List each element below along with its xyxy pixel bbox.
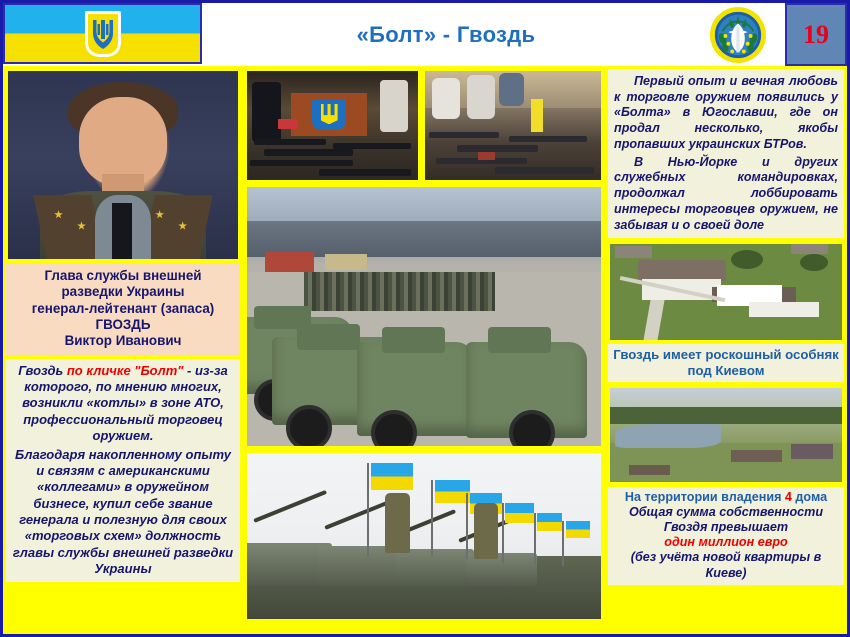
estate-caption-line-1: На территории владения 4 дома — [611, 490, 841, 505]
mansion-caption-line-1: Гвоздь имеет роскошный особняк — [610, 347, 842, 363]
pistol-shape — [509, 136, 586, 142]
caption-line-2: разведки Украины — [10, 284, 236, 300]
center-column — [243, 66, 605, 634]
right-body-text: Первый опыт и вечная любовь к торговле о… — [608, 69, 844, 238]
flag-pole — [562, 521, 564, 566]
rifle-shape — [319, 169, 411, 176]
estate-caption-amount: один миллион евро — [611, 535, 841, 550]
shipping-container — [325, 254, 367, 270]
emblem-container — [690, 3, 785, 66]
body-text-nickname: по кличке "Болт" — [67, 363, 184, 378]
rifle-shape — [250, 160, 353, 166]
ukraine-flag-icon — [3, 3, 202, 64]
person-silhouette — [499, 73, 524, 106]
yellow-marker — [531, 99, 543, 132]
estate-caption-line-1c: дома — [792, 490, 827, 504]
portrait-caption: Глава службы внешней разведки Украины ге… — [6, 263, 240, 356]
garage-wall — [749, 302, 819, 317]
left-body-text: Гвоздь по кличке "Болт" - из-за которого… — [6, 359, 240, 582]
estate-caption-line-2: Общая сумма собственности — [611, 505, 841, 520]
body-text-seg4: Благодаря накопленному опыту и связям с … — [13, 447, 233, 577]
ukraine-flag-icon — [371, 463, 413, 490]
mansion-caption: Гвоздь имеет роскошный особняк под Киево… — [608, 344, 844, 382]
trident-coat-of-arms-icon — [85, 11, 121, 57]
rifle-shape — [254, 139, 326, 145]
flag-pole — [367, 463, 369, 556]
ukraine-flag-icon — [505, 503, 533, 523]
estate-caption-line-3: Гвоздя превышает — [611, 520, 841, 535]
right-paragraph-2: В Нью-Йорке и других служебных командиро… — [614, 155, 838, 234]
pond — [615, 424, 722, 448]
soldier-silhouette — [474, 503, 499, 559]
vehicle-turret — [382, 327, 446, 353]
tank-barrel — [324, 500, 391, 530]
vehicle-wheel — [286, 405, 332, 448]
estate-building — [629, 465, 671, 475]
flag-pole — [431, 480, 433, 556]
forest-line — [610, 407, 842, 424]
guns-market-photo — [423, 69, 603, 182]
intelligence-service-emblem-icon — [709, 6, 767, 64]
trident-glyph — [90, 17, 116, 51]
estate-building — [731, 450, 782, 462]
vehicle-wheel — [371, 410, 417, 448]
caption-line-1: Глава службы внешней — [10, 268, 236, 284]
house-count: 4 — [785, 490, 792, 504]
slide-body: Глава службы внешней разведки Украины ге… — [3, 66, 847, 634]
caption-line-3: генерал-лейтенант (запаса) — [10, 301, 236, 317]
estate-building — [791, 444, 833, 459]
crowd-of-people — [304, 272, 495, 311]
page-number-badge: 19 — [785, 3, 847, 66]
mansion-caption-line-2: под Киевом — [610, 363, 842, 379]
neighbor-house — [791, 244, 828, 254]
caption-line-4: ГВОЗДЬ — [10, 317, 236, 333]
ukraine-flag-icon — [435, 480, 470, 503]
ukraine-flag-icon — [566, 521, 591, 538]
mansion-aerial-photo — [608, 242, 844, 342]
tanks-with-flags-photo — [245, 451, 603, 621]
left-column: Глава службы внешней разведки Украины ге… — [3, 66, 243, 634]
soldier-silhouette — [385, 493, 410, 553]
vehicle-turret — [488, 327, 552, 353]
red-sign — [278, 119, 299, 129]
armored-vehicles-port-photo — [245, 185, 603, 448]
vehicle-turret — [297, 324, 361, 350]
title-container: «Болт» - Гвоздь — [202, 3, 690, 66]
portrait-face — [79, 97, 166, 185]
tank-barrel — [253, 490, 327, 523]
rifle-shape — [333, 143, 412, 149]
pistol-shape — [495, 167, 594, 174]
body-text-seg1: Гвоздь — [18, 363, 67, 378]
trident-shape-icon — [321, 104, 338, 125]
rifle-shape — [264, 149, 353, 156]
guns-photo-row — [245, 69, 603, 182]
person-silhouette — [467, 75, 495, 119]
estate-caption: На территории владения 4 дома Общая сумм… — [608, 487, 844, 585]
estate-aerial-photo — [608, 386, 844, 484]
right-column: Первый опыт и вечная любовь к торговле о… — [605, 66, 847, 634]
neighbor-house — [615, 246, 652, 258]
portrait-photo — [6, 69, 240, 261]
estate-caption-line-6: Киеве) — [611, 566, 841, 581]
guns-exhibition-photo — [245, 69, 420, 182]
estate-caption-line-1a: На территории владения — [625, 490, 785, 504]
pistol-shape — [457, 145, 538, 152]
right-paragraph-1: Первый опыт и вечная любовь к торговле о… — [614, 74, 838, 153]
portrait-tie — [112, 203, 133, 259]
slide-page: «Болт» - Гвоздь — [0, 0, 850, 637]
wooden-stock — [478, 152, 496, 161]
shipping-container — [265, 252, 315, 273]
person-silhouette — [252, 82, 281, 142]
flag-pole — [534, 513, 536, 564]
slide-header: «Болт» - Гвоздь — [3, 3, 847, 66]
ukraine-flag-icon — [537, 513, 562, 531]
house-roof — [638, 260, 726, 281]
page-title: «Болт» - Гвоздь — [357, 22, 536, 48]
tank-hull — [396, 549, 474, 586]
page-number: 19 — [803, 20, 829, 50]
estate-caption-line-5: (без учёта новой квартиры в — [611, 550, 841, 565]
person-silhouette — [380, 80, 407, 132]
caption-line-5: Виктор Иванович — [10, 333, 236, 349]
person-silhouette — [432, 78, 460, 119]
flag-pole — [502, 503, 504, 563]
pistol-shape — [429, 132, 499, 138]
flag-pole — [466, 493, 468, 559]
